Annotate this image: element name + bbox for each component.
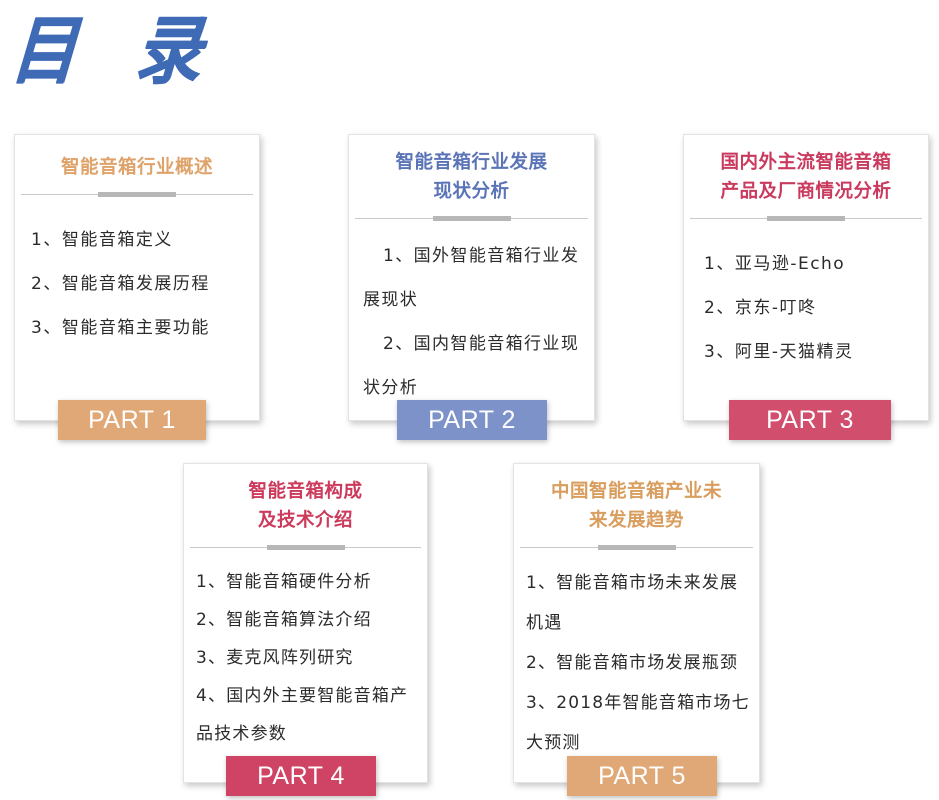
card-title: 中国智能音箱产业未 来发展趋势 (514, 464, 759, 535)
toc-card-part-1[interactable]: 智能音箱行业概述 1、智能音箱定义 2、智能音箱发展历程 3、智能音箱主要功能 (14, 134, 260, 421)
list-item[interactable]: 2、智能音箱市场发展瓶颈 (526, 643, 753, 683)
divider-nub (433, 216, 511, 221)
list-item[interactable]: 1、亚马逊-Echo (704, 242, 928, 286)
toc-card-part-5[interactable]: 中国智能音箱产业未 来发展趋势 1、智能音箱市场未来发展机遇 2、智能音箱市场发… (513, 463, 760, 783)
list-item[interactable]: 4、国内外主要智能音箱产品技术参数 (196, 677, 421, 753)
card-title: 智能音箱构成 及技术介绍 (184, 464, 427, 535)
toc-card-part-3[interactable]: 国内外主流智能音箱 产品及厂商情况分析 1、亚马逊-Echo 2、京东-叮咚 3… (683, 134, 929, 421)
card-divider (355, 215, 588, 222)
toc-card-part-4[interactable]: 智能音箱构成 及技术介绍 1、智能音箱硬件分析 2、智能音箱算法介绍 3、麦克风… (183, 463, 428, 783)
part-badge-5[interactable]: PART 5 (567, 756, 717, 796)
list-item[interactable]: 2、智能音箱发展历程 (31, 262, 259, 306)
list-item[interactable]: 1、国外智能音箱行业发展现状 (363, 234, 584, 322)
list-item[interactable]: 3、2018年智能音箱市场七大预测 (526, 683, 753, 763)
card-title: 智能音箱行业概述 (15, 135, 259, 182)
card-item-list: 1、智能音箱硬件分析 2、智能音箱算法介绍 3、麦克风阵列研究 4、国内外主要智… (184, 563, 427, 753)
card-item-list: 1、智能音箱定义 2、智能音箱发展历程 3、智能音箱主要功能 (15, 218, 259, 350)
list-item[interactable]: 3、阿里-天猫精灵 (704, 330, 928, 374)
toc-card-part-2[interactable]: 智能音箱行业发展 现状分析 1、国外智能音箱行业发展现状 2、国内智能音箱行业现… (348, 134, 595, 421)
divider-nub (767, 216, 845, 221)
page-title: 目 录 (7, 2, 223, 98)
list-item[interactable]: 2、京东-叮咚 (704, 286, 928, 330)
card-divider (520, 544, 753, 551)
card-title: 智能音箱行业发展 现状分析 (349, 135, 594, 206)
list-item[interactable]: 1、智能音箱定义 (31, 218, 259, 262)
card-divider (690, 215, 922, 222)
part-badge-4[interactable]: PART 4 (226, 756, 376, 796)
list-item[interactable]: 1、智能音箱市场未来发展机遇 (526, 563, 753, 643)
card-title: 国内外主流智能音箱 产品及厂商情况分析 (684, 135, 928, 206)
list-item[interactable]: 2、国内智能音箱行业现状分析 (363, 322, 584, 410)
list-item[interactable]: 3、麦克风阵列研究 (196, 639, 421, 677)
card-divider (190, 544, 421, 551)
divider-nub (267, 545, 345, 550)
list-item[interactable]: 2、智能音箱算法介绍 (196, 601, 421, 639)
card-item-list: 1、智能音箱市场未来发展机遇 2、智能音箱市场发展瓶颈 3、2018年智能音箱市… (514, 563, 759, 763)
list-item[interactable]: 3、智能音箱主要功能 (31, 306, 259, 350)
card-item-list: 1、国外智能音箱行业发展现状 2、国内智能音箱行业现状分析 (349, 234, 594, 410)
card-divider (21, 191, 253, 198)
card-item-list: 1、亚马逊-Echo 2、京东-叮咚 3、阿里-天猫精灵 (684, 242, 928, 374)
part-badge-2[interactable]: PART 2 (397, 400, 547, 440)
divider-nub (98, 192, 176, 197)
divider-nub (598, 545, 676, 550)
part-badge-1[interactable]: PART 1 (58, 400, 206, 440)
part-badge-3[interactable]: PART 3 (729, 400, 891, 440)
list-item[interactable]: 1、智能音箱硬件分析 (196, 563, 421, 601)
